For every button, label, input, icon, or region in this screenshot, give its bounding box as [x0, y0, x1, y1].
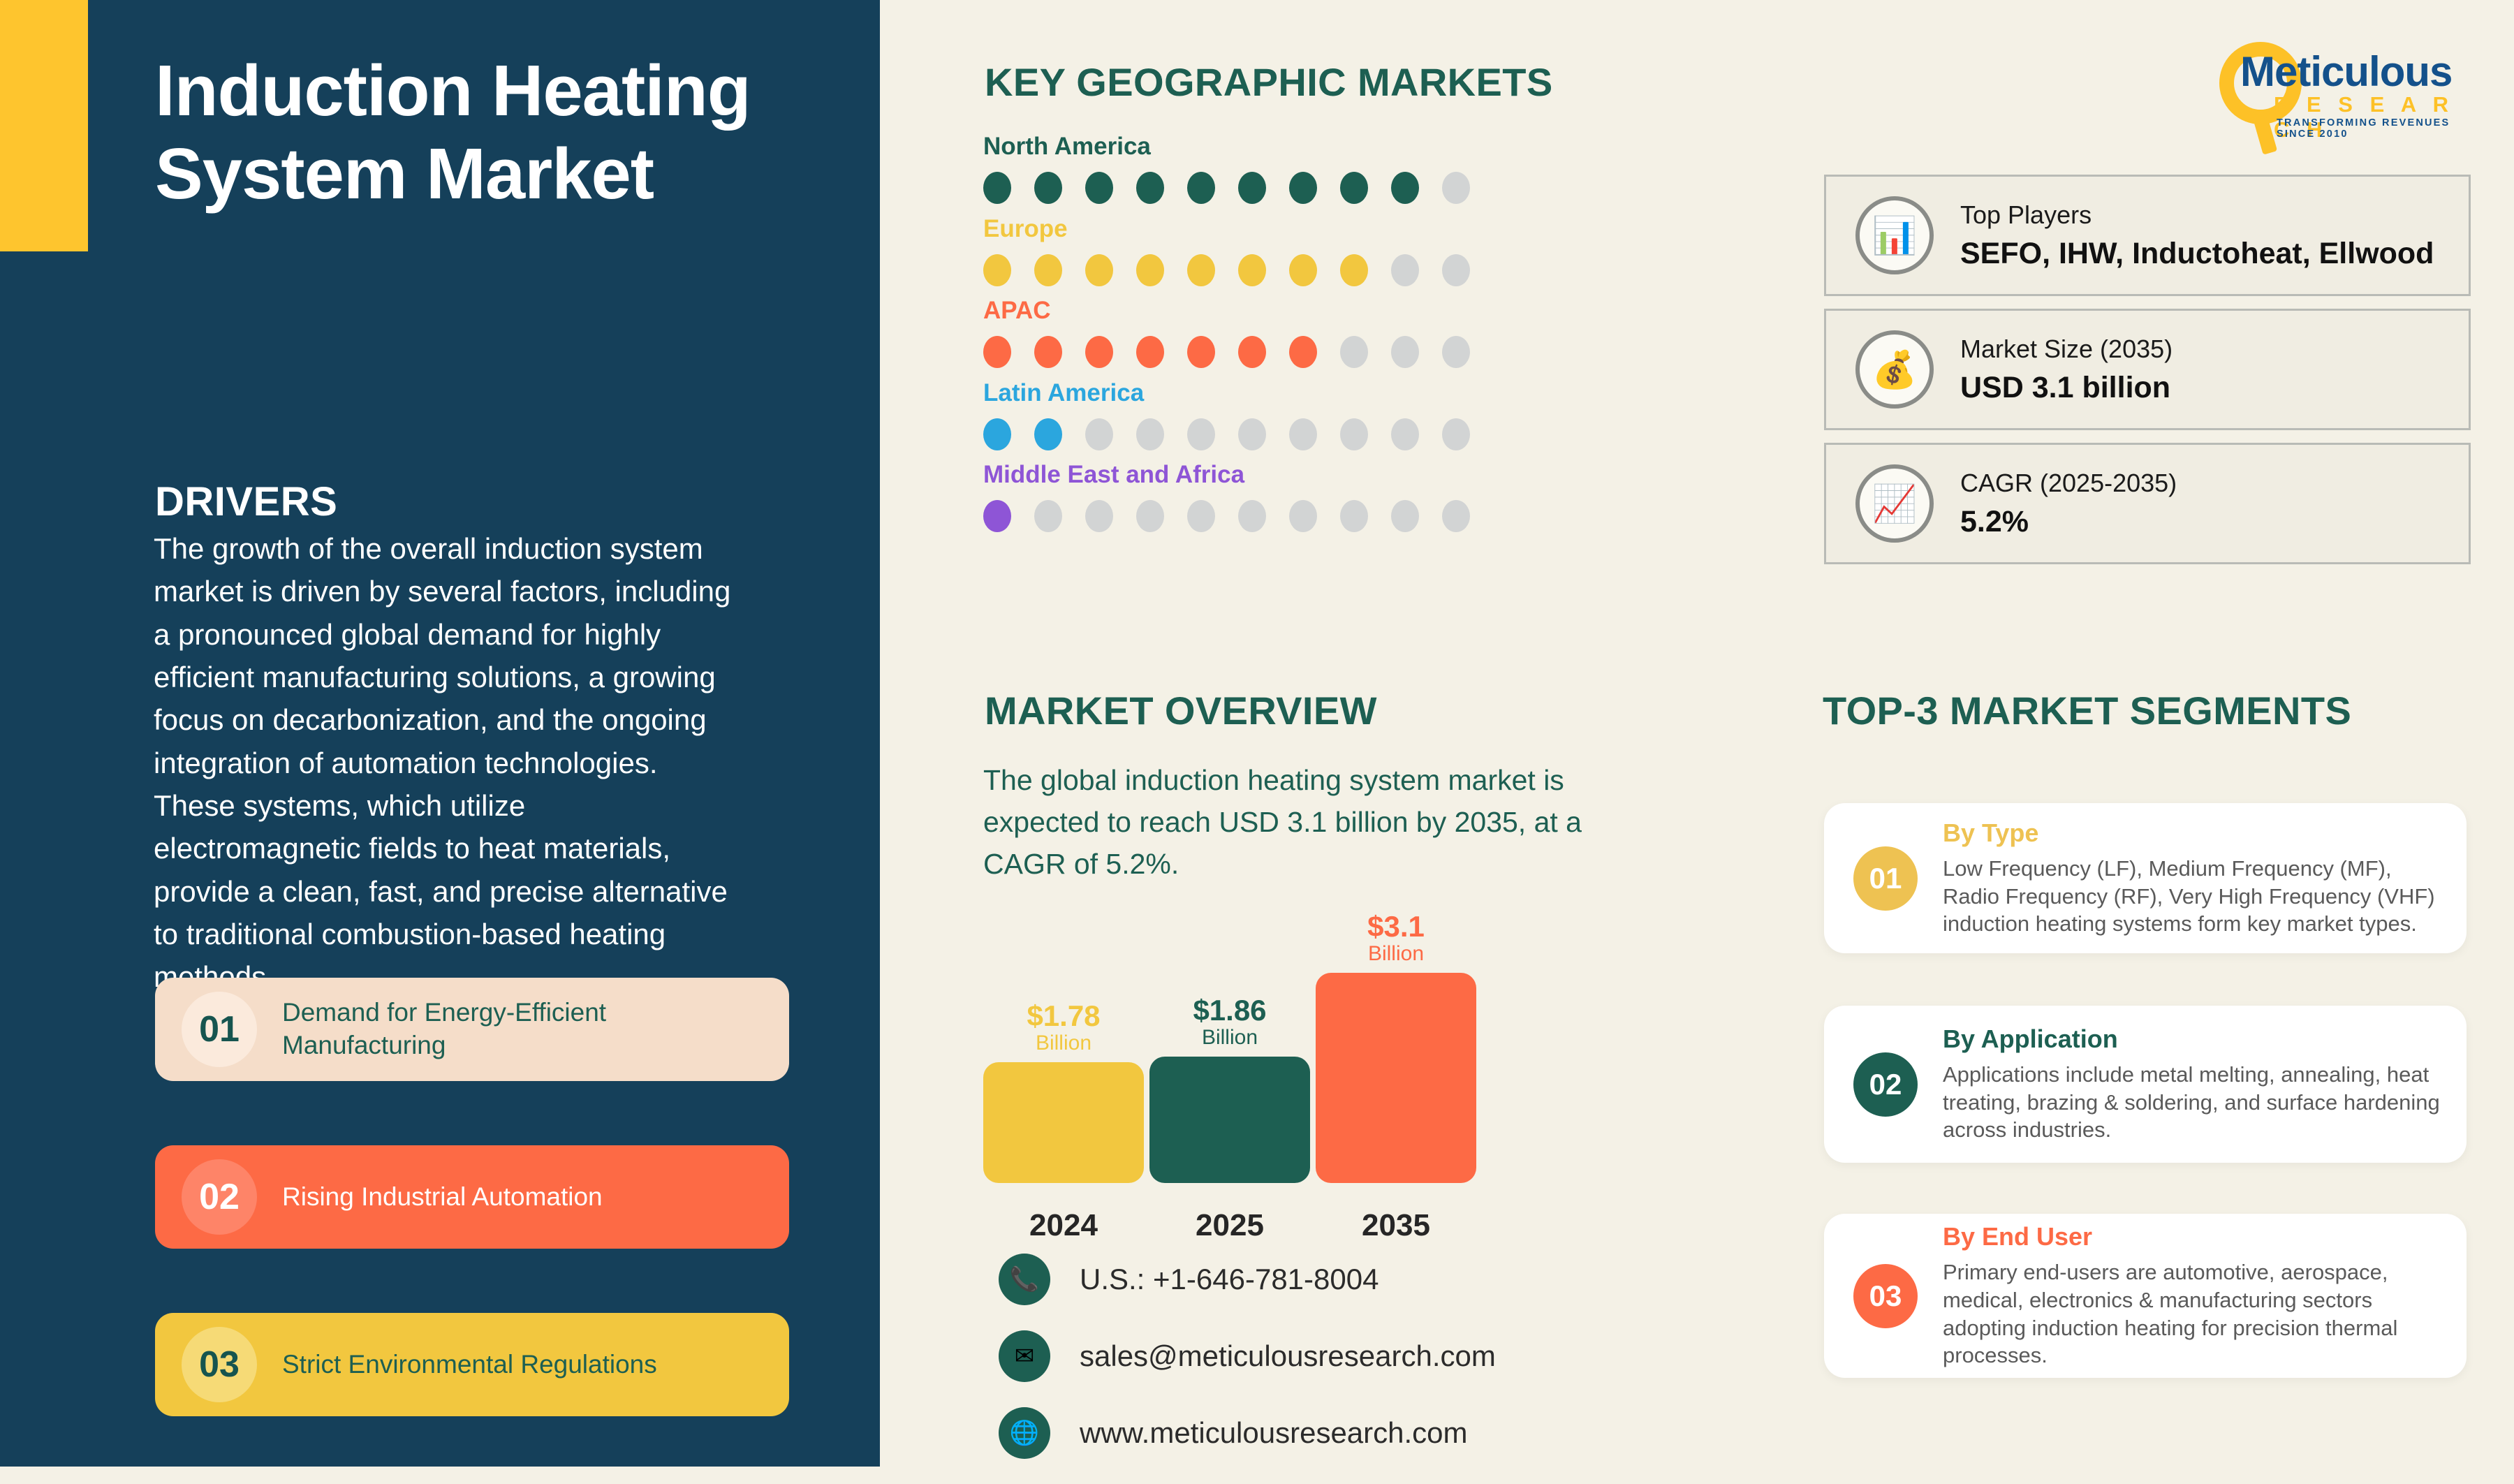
segment-card-1[interactable]: 01By TypeLow Frequency (LF), Medium Freq… — [1824, 803, 2467, 953]
contact-row[interactable]: 🌐www.meticulousresearch.com — [999, 1407, 1496, 1459]
bar-group: $1.86Billion2025 — [1149, 908, 1310, 1243]
region-dot-empty — [1442, 172, 1470, 204]
region-dot-filled — [983, 254, 1011, 286]
contact-row[interactable]: 📞U.S.: +1-646-781-8004 — [999, 1254, 1496, 1305]
contact-text: sales@meticulousresearch.com — [1080, 1339, 1496, 1373]
bar-group: $3.1Billion2035 — [1316, 908, 1476, 1243]
contact-block: 📞U.S.: +1-646-781-8004✉sales@meticulousr… — [999, 1254, 1496, 1484]
region-dot-empty — [1442, 336, 1470, 368]
driver-card-1[interactable]: 01 Demand for Energy-Efficient Manufactu… — [155, 978, 789, 1081]
region-dot-scale — [983, 500, 1470, 532]
geographic-heading: KEY GEOGRAPHIC MARKETS — [985, 59, 1553, 105]
region-label: Latin America — [983, 379, 1470, 407]
drivers-heading: DRIVERS — [155, 478, 337, 525]
accent-bar — [0, 0, 88, 251]
region-row-3: APAC — [983, 297, 1470, 368]
kpi-texts: Top PlayersSEFO, IHW, Inductoheat, Ellwo… — [1960, 200, 2434, 271]
segment-title: By End User — [1943, 1222, 2446, 1251]
segment-title: By Application — [1943, 1024, 2446, 1054]
region-dot-empty — [1187, 500, 1215, 532]
bar-value-label: $3.1Billion — [1316, 911, 1476, 964]
region-dot-filled — [1238, 336, 1266, 368]
region-dot-empty — [1391, 500, 1419, 532]
brand-logo[interactable]: Meticulous R E S E A R C H TRANSFORMING … — [2207, 35, 2472, 133]
segment-number-badge: 01 — [1853, 846, 1918, 911]
bar-category-label: 2024 — [983, 1208, 1144, 1243]
region-dot-filled — [1238, 254, 1266, 286]
region-dot-filled — [1340, 172, 1368, 204]
region-dot-filled — [1289, 254, 1317, 286]
region-dot-filled — [1085, 172, 1113, 204]
segment-card-2[interactable]: 02By ApplicationApplications include met… — [1824, 1006, 2467, 1163]
region-dot-scale — [983, 172, 1470, 204]
bar-category-label: 2025 — [1149, 1208, 1310, 1243]
region-dot-filled — [1136, 336, 1164, 368]
globe-icon: 🌐 — [999, 1407, 1050, 1459]
region-dot-filled — [1187, 172, 1215, 204]
logo-tagline: TRANSFORMING REVENUES SINCE 2010 — [2277, 117, 2472, 140]
segments-heading: TOP-3 MARKET SEGMENTS — [1823, 688, 2351, 733]
region-dot-filled — [1034, 336, 1062, 368]
region-label: Europe — [983, 215, 1470, 243]
kpi-card-2[interactable]: 💰Market Size (2035)USD 3.1 billion — [1824, 309, 2471, 430]
region-dot-scale — [983, 254, 1470, 286]
kpi-texts: Market Size (2035)USD 3.1 billion — [1960, 335, 2173, 405]
driver-label-1: Demand for Energy-Efficient Manufacturin… — [282, 997, 789, 1061]
region-dot-filled — [1391, 172, 1419, 204]
region-dot-filled — [1085, 254, 1113, 286]
driver-number-2: 02 — [182, 1159, 257, 1235]
region-dot-filled — [1034, 172, 1062, 204]
overview-heading: MARKET OVERVIEW — [985, 688, 1377, 733]
region-row-1: North America — [983, 133, 1470, 204]
region-dot-filled — [1340, 254, 1368, 286]
region-row-2: Europe — [983, 215, 1470, 286]
infographic-page: Induction Heating System Market DRIVERS … — [0, 0, 2514, 1467]
region-dot-scale — [983, 336, 1470, 368]
region-label: Middle East and Africa — [983, 461, 1470, 489]
region-dot-filled — [1187, 336, 1215, 368]
phone-icon: 📞 — [999, 1254, 1050, 1305]
bar-group: $1.78Billion2024 — [983, 908, 1144, 1243]
region-dot-filled — [983, 500, 1011, 532]
overview-body: The global induction heating system mark… — [983, 760, 1612, 886]
driver-label-3: Strict Environmental Regulations — [282, 1349, 674, 1381]
region-dot-empty — [1340, 418, 1368, 450]
kpi-value: 5.2% — [1960, 505, 2177, 539]
driver-card-3[interactable]: 03 Strict Environmental Regulations — [155, 1313, 789, 1416]
kpi-label: Top Players — [1960, 200, 2434, 230]
segment-body: By TypeLow Frequency (LF), Medium Freque… — [1943, 818, 2467, 939]
region-dot-empty — [1187, 418, 1215, 450]
region-dot-filled — [983, 172, 1011, 204]
drivers-body: The growth of the overall induction syst… — [154, 527, 740, 998]
region-dot-filled — [1289, 172, 1317, 204]
region-dot-filled — [983, 336, 1011, 368]
region-dot-scale — [983, 418, 1470, 450]
region-dot-empty — [1238, 418, 1266, 450]
region-dot-empty — [1085, 500, 1113, 532]
region-dot-empty — [1391, 418, 1419, 450]
region-dot-empty — [1136, 418, 1164, 450]
kpi-value: USD 3.1 billion — [1960, 371, 2173, 405]
kpi-value: SEFO, IHW, Inductoheat, Ellwood — [1960, 237, 2434, 271]
page-title: Induction Heating System Market — [155, 49, 784, 216]
region-dot-filled — [983, 418, 1011, 450]
region-dot-empty — [1289, 500, 1317, 532]
segment-body: By End UserPrimary end-users are automot… — [1943, 1222, 2467, 1370]
region-dot-empty — [1340, 500, 1368, 532]
region-dot-empty — [1136, 500, 1164, 532]
segment-body: By ApplicationApplications include metal… — [1943, 1024, 2467, 1145]
region-dot-filled — [1034, 254, 1062, 286]
contact-row[interactable]: ✉sales@meticulousresearch.com — [999, 1330, 1496, 1382]
region-dot-filled — [1034, 418, 1062, 450]
logo-name: Meticulous — [2240, 47, 2452, 96]
region-dot-empty — [1085, 418, 1113, 450]
market-size-bar-chart: $1.78Billion2024$1.86Billion2025$3.1Bill… — [983, 908, 1549, 1243]
bar-value-label: $1.78Billion — [983, 1001, 1144, 1054]
region-label: APAC — [983, 297, 1470, 325]
segment-number-badge: 03 — [1853, 1264, 1918, 1328]
region-dot-filled — [1136, 254, 1164, 286]
region-dot-filled — [1289, 336, 1317, 368]
region-label: North America — [983, 133, 1470, 161]
driver-number-3: 03 — [182, 1327, 257, 1402]
region-dot-empty — [1034, 500, 1062, 532]
region-dot-empty — [1391, 336, 1419, 368]
region-row-5: Middle East and Africa — [983, 461, 1470, 532]
segment-number-badge: 02 — [1853, 1052, 1918, 1117]
region-dot-empty — [1442, 254, 1470, 286]
bar-chart-icon: 📊 — [1855, 196, 1934, 274]
sidebar-panel: Induction Heating System Market DRIVERS … — [0, 0, 880, 1467]
segment-title: By Type — [1943, 818, 2446, 848]
bar — [983, 1062, 1144, 1183]
region-dot-empty — [1391, 254, 1419, 286]
region-dot-filled — [1136, 172, 1164, 204]
segment-description: Applications include metal melting, anne… — [1943, 1061, 2446, 1145]
segment-description: Primary end-users are automotive, aerosp… — [1943, 1258, 2446, 1370]
contact-text: U.S.: +1-646-781-8004 — [1080, 1263, 1379, 1296]
driver-card-2[interactable]: 02 Rising Industrial Automation — [155, 1145, 789, 1249]
region-dot-empty — [1442, 500, 1470, 532]
bar — [1149, 1057, 1310, 1183]
region-dot-empty — [1340, 336, 1368, 368]
money-bag-icon: 💰 — [1855, 330, 1934, 409]
bar-value-label: $1.86Billion — [1149, 995, 1310, 1048]
kpi-card-1[interactable]: 📊Top PlayersSEFO, IHW, Inductoheat, Ellw… — [1824, 175, 2471, 296]
region-dot-empty — [1442, 418, 1470, 450]
kpi-texts: CAGR (2025-2035)5.2% — [1960, 469, 2177, 539]
region-dot-empty — [1289, 418, 1317, 450]
segment-description: Low Frequency (LF), Medium Frequency (MF… — [1943, 855, 2446, 939]
region-dot-empty — [1238, 500, 1266, 532]
region-dot-filled — [1187, 254, 1215, 286]
region-row-4: Latin America — [983, 379, 1470, 450]
driver-number-1: 01 — [182, 992, 257, 1067]
driver-label-2: Rising Industrial Automation — [282, 1181, 619, 1214]
kpi-card-3[interactable]: 📈CAGR (2025-2035)5.2% — [1824, 443, 2471, 564]
email-icon: ✉ — [999, 1330, 1050, 1382]
region-dot-filled — [1085, 336, 1113, 368]
trend-up-icon: 📈 — [1855, 464, 1934, 543]
kpi-label: Market Size (2035) — [1960, 335, 2173, 364]
region-dot-filled — [1238, 172, 1266, 204]
bar — [1316, 973, 1476, 1183]
contact-text: www.meticulousresearch.com — [1080, 1416, 1468, 1450]
bar-category-label: 2035 — [1316, 1208, 1476, 1243]
kpi-label: CAGR (2025-2035) — [1960, 469, 2177, 498]
segment-card-3[interactable]: 03By End UserPrimary end-users are autom… — [1824, 1214, 2467, 1378]
